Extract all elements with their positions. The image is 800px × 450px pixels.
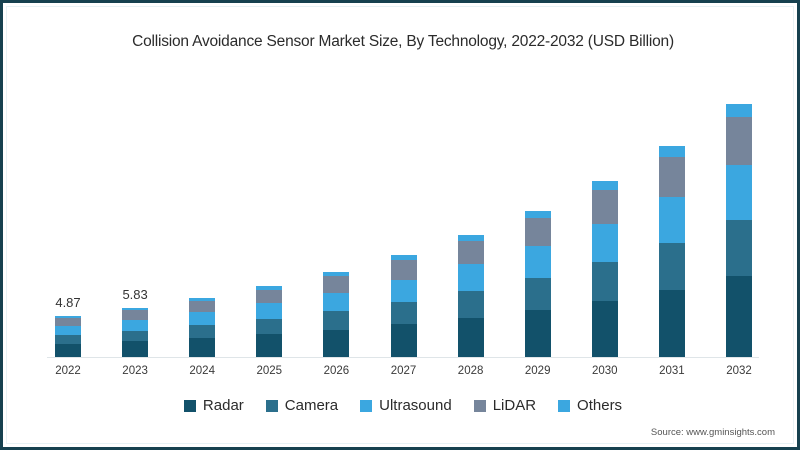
- bar-segment-camera[interactable]: [458, 291, 484, 318]
- bar-2022[interactable]: [55, 316, 81, 357]
- bar-segment-camera[interactable]: [55, 335, 81, 344]
- bar-segment-camera[interactable]: [592, 262, 618, 301]
- x-tick-2024: 2024: [189, 365, 215, 377]
- bar-segment-others[interactable]: [726, 104, 752, 117]
- bar-segment-camera[interactable]: [525, 278, 551, 310]
- x-tick-2032: 2032: [726, 365, 752, 377]
- chart-title: Collision Avoidance Sensor Market Size, …: [3, 33, 800, 51]
- bar-segment-others[interactable]: [592, 181, 618, 190]
- legend-label: LiDAR: [493, 397, 536, 414]
- bar-2023[interactable]: [122, 308, 148, 357]
- bar-segment-radar[interactable]: [726, 276, 752, 357]
- bar-2024[interactable]: [189, 298, 215, 357]
- bar-segment-lidar[interactable]: [592, 190, 618, 224]
- bar-segment-camera[interactable]: [256, 319, 282, 335]
- bar-segment-ultrasound[interactable]: [189, 312, 215, 325]
- bar-segment-lidar[interactable]: [391, 260, 417, 279]
- bar-segment-lidar[interactable]: [323, 276, 349, 292]
- bar-2028[interactable]: [458, 235, 484, 357]
- bar-segment-radar[interactable]: [592, 301, 618, 357]
- source-attribution: Source: www.gminsights.com: [651, 427, 775, 438]
- x-tick-2027: 2027: [391, 365, 417, 377]
- bar-segment-ultrasound[interactable]: [122, 320, 148, 331]
- chart-container: Collision Avoidance Sensor Market Size, …: [0, 0, 800, 450]
- bar-2032[interactable]: [726, 104, 752, 357]
- bar-2030[interactable]: [592, 181, 618, 357]
- bar-segment-camera[interactable]: [323, 311, 349, 330]
- bar-segment-ultrasound[interactable]: [391, 280, 417, 302]
- bar-segment-lidar[interactable]: [256, 290, 282, 303]
- legend-label: Camera: [285, 397, 338, 414]
- bar-segment-ultrasound[interactable]: [256, 303, 282, 319]
- bar-segment-lidar[interactable]: [458, 241, 484, 264]
- plot-area: 4.875.83: [33, 73, 773, 358]
- bar-segment-ultrasound[interactable]: [525, 246, 551, 278]
- bar-segment-ultrasound[interactable]: [323, 293, 349, 312]
- legend-swatch-icon: [474, 400, 486, 412]
- x-tick-2023: 2023: [122, 365, 148, 377]
- legend-swatch-icon: [558, 400, 570, 412]
- bar-segment-others[interactable]: [659, 146, 685, 156]
- x-tick-2030: 2030: [592, 365, 618, 377]
- legend-item-others[interactable]: Others: [558, 397, 622, 414]
- bar-segment-lidar[interactable]: [122, 310, 148, 319]
- bar-2026[interactable]: [323, 272, 349, 357]
- bar-segment-lidar[interactable]: [726, 117, 752, 165]
- bar-segment-camera[interactable]: [122, 331, 148, 342]
- legend-item-ultrasound[interactable]: Ultrasound: [360, 397, 452, 414]
- x-tick-2025: 2025: [257, 365, 283, 377]
- bar-value-label-2023: 5.83: [122, 287, 147, 302]
- bar-segment-radar[interactable]: [55, 344, 81, 357]
- legend-label: Ultrasound: [379, 397, 452, 414]
- bar-segment-radar[interactable]: [458, 318, 484, 357]
- bar-segment-camera[interactable]: [726, 220, 752, 276]
- x-tick-2031: 2031: [659, 365, 685, 377]
- bar-segment-lidar[interactable]: [189, 301, 215, 312]
- bar-2029[interactable]: [525, 211, 551, 357]
- chart-legend: RadarCameraUltrasoundLiDAROthers: [3, 397, 800, 414]
- bar-value-label-2022: 4.87: [55, 295, 80, 310]
- x-tick-2029: 2029: [525, 365, 551, 377]
- bar-segment-radar[interactable]: [122, 341, 148, 357]
- legend-swatch-icon: [360, 400, 372, 412]
- bar-segment-radar[interactable]: [256, 334, 282, 357]
- bar-2031[interactable]: [659, 146, 685, 357]
- bar-segment-radar[interactable]: [323, 330, 349, 357]
- bar-segment-radar[interactable]: [659, 290, 685, 357]
- bar-segment-radar[interactable]: [391, 324, 417, 357]
- legend-item-radar[interactable]: Radar: [184, 397, 244, 414]
- bar-segment-ultrasound[interactable]: [726, 165, 752, 221]
- legend-item-camera[interactable]: Camera: [266, 397, 338, 414]
- bar-segment-ultrasound[interactable]: [458, 264, 484, 291]
- bar-segment-lidar[interactable]: [659, 157, 685, 197]
- bar-segment-others[interactable]: [525, 211, 551, 218]
- bar-segment-ultrasound[interactable]: [592, 224, 618, 263]
- x-tick-2022: 2022: [55, 365, 81, 377]
- x-axis-baseline: [47, 357, 759, 358]
- bar-2027[interactable]: [391, 255, 417, 357]
- legend-label: Others: [577, 397, 622, 414]
- bar-segment-camera[interactable]: [659, 243, 685, 289]
- legend-swatch-icon: [184, 400, 196, 412]
- x-tick-2028: 2028: [458, 365, 484, 377]
- x-axis-labels: 2022202320242025202620272028202920302031…: [33, 365, 773, 385]
- bar-segment-lidar[interactable]: [55, 318, 81, 326]
- legend-swatch-icon: [266, 400, 278, 412]
- bar-segment-lidar[interactable]: [525, 218, 551, 246]
- legend-item-lidar[interactable]: LiDAR: [474, 397, 536, 414]
- bar-segment-radar[interactable]: [525, 310, 551, 357]
- bar-segment-camera[interactable]: [189, 325, 215, 338]
- bar-2025[interactable]: [256, 286, 282, 357]
- bar-segment-camera[interactable]: [391, 302, 417, 324]
- bar-segment-ultrasound[interactable]: [55, 326, 81, 335]
- legend-label: Radar: [203, 397, 244, 414]
- bar-segment-ultrasound[interactable]: [659, 197, 685, 243]
- x-tick-2026: 2026: [324, 365, 350, 377]
- bar-segment-radar[interactable]: [189, 338, 215, 357]
